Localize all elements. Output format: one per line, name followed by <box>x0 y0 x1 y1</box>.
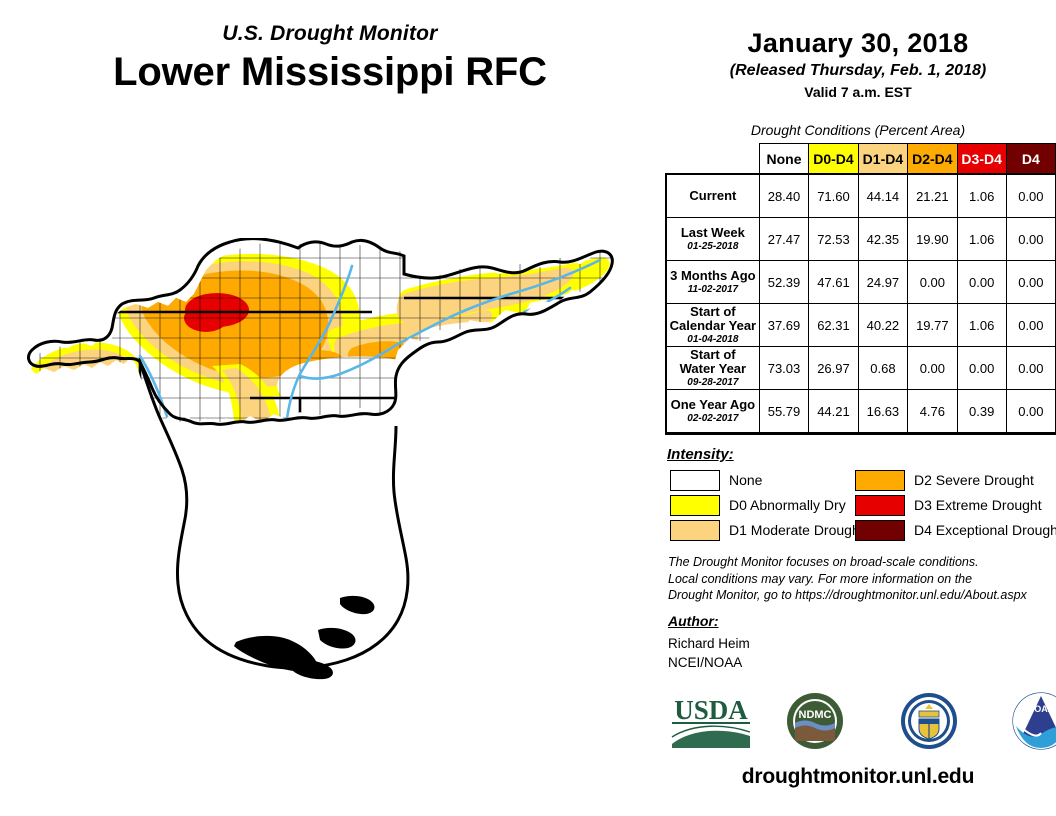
row-date: 01-25-2018 <box>667 241 759 252</box>
legend-label: D2 Severe Drought <box>914 472 1034 488</box>
arkansas-river <box>126 488 256 596</box>
region-d0-sw-louisiana <box>94 559 211 604</box>
row-date: 09-28-2017 <box>667 377 759 388</box>
cell-value: 72.53 <box>809 218 858 261</box>
cell-value: 0.00 <box>1006 175 1055 218</box>
region-d1-midwest-block <box>120 444 282 511</box>
cell-value: 21.21 <box>908 175 957 218</box>
cell-value: 28.40 <box>759 175 809 218</box>
region-d0-midwest-block <box>111 446 288 525</box>
author-affiliation: NCEI/NOAA <box>668 653 750 672</box>
disclaimer-line-3: Drought Monitor, go to https://droughtmo… <box>668 587 1056 604</box>
column-header-d4: D4 <box>1006 144 1055 175</box>
disclaimer-line-2: Local conditions may vary. For more info… <box>668 571 1056 588</box>
page-title: Lower Mississippi RFC <box>0 50 660 95</box>
region-d1-east <box>286 508 411 588</box>
cell-value: 0.00 <box>908 347 957 390</box>
column-header-d3-d4: D3-D4 <box>957 144 1006 175</box>
row-label-current: Current <box>667 175 760 218</box>
cell-value: 44.21 <box>809 390 858 433</box>
table-header-row: NoneD0-D4D1-D4D2-D4D3-D4D4 <box>667 144 1056 175</box>
region-d2-east <box>299 516 404 577</box>
legend-column-right: D2 Severe DroughtD3 Extreme DroughtD4 Ex… <box>855 468 1056 543</box>
website-url: droughtmonitor.unl.edu <box>660 765 1056 789</box>
table-row: Start ofWater Year09-28-201773.0326.970.… <box>667 347 1056 390</box>
cell-value: 62.31 <box>809 304 858 347</box>
valid-time: Valid 7 a.m. EST <box>660 84 1056 100</box>
cell-value: 0.00 <box>1006 304 1055 347</box>
legend-item: None <box>670 468 864 492</box>
column-header-d0-d4: D0-D4 <box>809 144 858 175</box>
map-title-block: U.S. Drought Monitor Lower Mississippi R… <box>0 22 660 95</box>
cell-value: 0.00 <box>1006 218 1055 261</box>
cell-value: 73.03 <box>759 347 809 390</box>
author-name: Richard Heim <box>668 634 750 653</box>
legend-swatch <box>670 495 720 516</box>
noaa-logo: NOAA <box>1012 692 1056 750</box>
table-row: 3 Months Ago11-02-201752.3947.6124.970.0… <box>667 261 1056 304</box>
table-corner-cell <box>667 144 760 175</box>
cell-value: 52.39 <box>759 261 809 304</box>
legend-swatch <box>855 495 905 516</box>
legend-label: D0 Abnormally Dry <box>729 497 846 513</box>
cell-value: 0.39 <box>957 390 1006 433</box>
cell-value: 37.69 <box>759 304 809 347</box>
row-label-one-year-ago: One Year Ago02-02-2017 <box>667 390 760 433</box>
issue-date: January 30, 2018 <box>660 28 1056 59</box>
legend-item: D3 Extreme Drought <box>855 493 1056 517</box>
cell-value: 26.97 <box>809 347 858 390</box>
legend-column-left: NoneD0 Abnormally DryD1 Moderate Drought <box>670 468 864 543</box>
column-header-d1-d4: D1-D4 <box>858 144 907 175</box>
tributary-south <box>236 596 256 624</box>
legend-item: D4 Exceptional Drought <box>855 518 1056 542</box>
cell-value: 24.97 <box>858 261 907 304</box>
logo-row: USDA NDMC NOAA <box>660 692 1056 754</box>
legend-item: D1 Moderate Drought <box>670 518 864 542</box>
row-label-3-months-ago: 3 Months Ago11-02-2017 <box>667 261 760 304</box>
agency-title: U.S. Drought Monitor <box>0 22 660 46</box>
cell-value: 40.22 <box>858 304 907 347</box>
usda-logo: USDA <box>668 692 754 750</box>
svg-text:NOAA: NOAA <box>1028 704 1055 714</box>
cell-value: 1.06 <box>957 218 1006 261</box>
region-d0-arkansas-halo <box>90 480 345 610</box>
cell-value: 71.60 <box>809 175 858 218</box>
row-label-last-week: Last Week01-25-2018 <box>667 218 760 261</box>
legend-label: D3 Extreme Drought <box>914 497 1042 513</box>
disclaimer-line-1: The Drought Monitor focuses on broad-sca… <box>668 554 1056 571</box>
usda-seal-logo <box>900 692 958 750</box>
region-d2-arkansas <box>113 498 318 597</box>
cell-value: 0.00 <box>957 261 1006 304</box>
cell-value: 0.00 <box>1006 390 1055 433</box>
lower-mississippi-rfc-drought-map[interactable] <box>0 238 660 688</box>
table-row: One Year Ago02-02-201755.7944.2116.634.7… <box>667 390 1056 433</box>
cell-value: 44.14 <box>858 175 907 218</box>
cell-value: 55.79 <box>759 390 809 433</box>
legend-swatch <box>855 520 905 541</box>
column-header-none: None <box>759 144 809 175</box>
cell-value: 42.35 <box>858 218 907 261</box>
cell-value: 0.00 <box>957 347 1006 390</box>
table-row: Current28.4071.6044.1421.211.060.00 <box>667 175 1056 218</box>
row-date: 11-02-2017 <box>667 284 759 295</box>
cell-value: 1.06 <box>957 175 1006 218</box>
legend-label: None <box>729 472 762 488</box>
intensity-heading: Intensity: <box>667 446 734 463</box>
table-row: Start ofCalendar Year01-04-201837.6962.3… <box>667 304 1056 347</box>
row-label-start-of-water-year: Start ofWater Year09-28-2017 <box>667 347 760 390</box>
region-d1-arkansas-ring <box>101 488 335 603</box>
author-block: Richard Heim NCEI/NOAA <box>668 634 750 672</box>
svg-text:USDA: USDA <box>674 695 748 725</box>
cell-value: 27.47 <box>759 218 809 261</box>
legend-label: D4 Exceptional Drought <box>914 522 1056 538</box>
table-body: Current28.4071.6044.1421.211.060.00Last … <box>667 175 1056 433</box>
cell-value: 0.68 <box>858 347 907 390</box>
disclaimer-text: The Drought Monitor focuses on broad-sca… <box>668 554 1056 604</box>
cell-value: 1.06 <box>957 304 1006 347</box>
region-d1-arkansas-halo <box>99 486 334 604</box>
cell-value: 16.63 <box>858 390 907 433</box>
row-label-start-of-calendar-year: Start ofCalendar Year01-04-2018 <box>667 304 760 347</box>
legend-swatch <box>670 520 720 541</box>
ndmc-logo: NDMC <box>786 692 844 750</box>
table-row: Last Week01-25-201827.4772.5342.3519.901… <box>667 218 1056 261</box>
drought-conditions-table: NoneD0-D4D1-D4D2-D4D3-D4D4 Current28.407… <box>666 143 1056 433</box>
legend-swatch <box>855 470 905 491</box>
row-date: 01-04-2018 <box>667 334 759 345</box>
svg-text:NDMC: NDMC <box>799 709 832 721</box>
drought-map-container[interactable] <box>0 238 660 688</box>
cell-value: 19.90 <box>908 218 957 261</box>
cell-value: 19.77 <box>908 304 957 347</box>
cell-value: 0.00 <box>1006 261 1055 304</box>
author-heading: Author: <box>668 613 719 629</box>
column-header-d2-d4: D2-D4 <box>908 144 957 175</box>
cell-value: 0.00 <box>908 261 957 304</box>
region-none-south-ms <box>272 534 407 590</box>
cell-value: 4.76 <box>908 390 957 433</box>
table-header-row-inner: NoneD0-D4D1-D4D2-D4D3-D4D4 <box>667 144 1056 175</box>
cell-value: 0.00 <box>1006 347 1055 390</box>
legend-item: D2 Severe Drought <box>855 468 1056 492</box>
row-date: 02-02-2017 <box>667 413 759 424</box>
issue-header: January 30, 2018 (Released Thursday, Feb… <box>660 28 1056 100</box>
release-date: (Released Thursday, Feb. 1, 2018) <box>660 62 1056 80</box>
legend-label: D1 Moderate Drought <box>729 522 864 538</box>
region-d2-arkansas-core <box>135 510 301 583</box>
cell-value: 47.61 <box>809 261 858 304</box>
legend-item: D0 Abnormally Dry <box>670 493 864 517</box>
legend-swatch <box>670 470 720 491</box>
table-caption: Drought Conditions (Percent Area) <box>660 122 1056 138</box>
